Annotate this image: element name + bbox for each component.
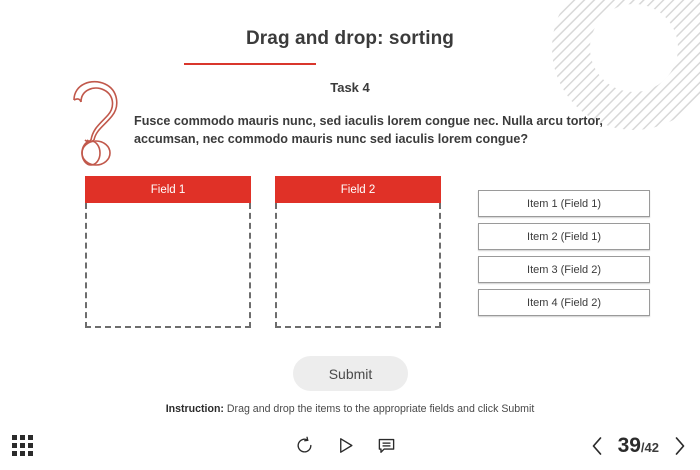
drop-field-2[interactable]: Field 2: [275, 176, 441, 328]
prompt-text: Fusce commodo mauris nunc, sed iaculis l…: [134, 112, 608, 149]
page-total: /42: [641, 440, 659, 455]
field-header-label: Field 1: [85, 176, 251, 203]
list-item[interactable]: Item 4 (Field 2): [478, 289, 650, 316]
draggable-item-list: Item 1 (Field 1) Item 2 (Field 1) Item 3…: [478, 190, 650, 322]
slide-canvas: Drag and drop: sorting Task 4 Fusce comm…: [0, 0, 700, 470]
grid-icon[interactable]: [11, 434, 35, 458]
title-underline: [184, 63, 316, 65]
play-icon[interactable]: [336, 436, 355, 455]
list-item[interactable]: Item 3 (Field 2): [478, 256, 650, 283]
bottom-navigation-bar: 39 /42: [0, 428, 700, 470]
chevron-right-icon[interactable]: [671, 435, 688, 457]
page-indicator: 39 /42: [618, 434, 659, 458]
submit-button[interactable]: Submit: [293, 356, 408, 391]
page-title: Drag and drop: sorting: [0, 28, 700, 50]
instruction-text: Instruction: Drag and drop the items to …: [0, 403, 700, 415]
playback-controls: [295, 436, 396, 455]
drop-zone-2[interactable]: [275, 203, 441, 328]
drop-zone-1[interactable]: [85, 203, 251, 328]
task-label: Task 4: [0, 80, 700, 95]
replay-icon[interactable]: [295, 436, 314, 455]
chevron-left-icon[interactable]: [589, 435, 606, 457]
pager: 39 /42: [589, 434, 688, 458]
field-header-label: Field 2: [275, 176, 441, 203]
list-item[interactable]: Item 2 (Field 1): [478, 223, 650, 250]
instruction-lead: Instruction:: [166, 403, 224, 415]
current-page: 39: [618, 434, 641, 458]
list-item[interactable]: Item 1 (Field 1): [478, 190, 650, 217]
drop-field-1[interactable]: Field 1: [85, 176, 251, 328]
comment-icon[interactable]: [377, 436, 396, 455]
instruction-body: Drag and drop the items to the appropria…: [227, 403, 534, 415]
